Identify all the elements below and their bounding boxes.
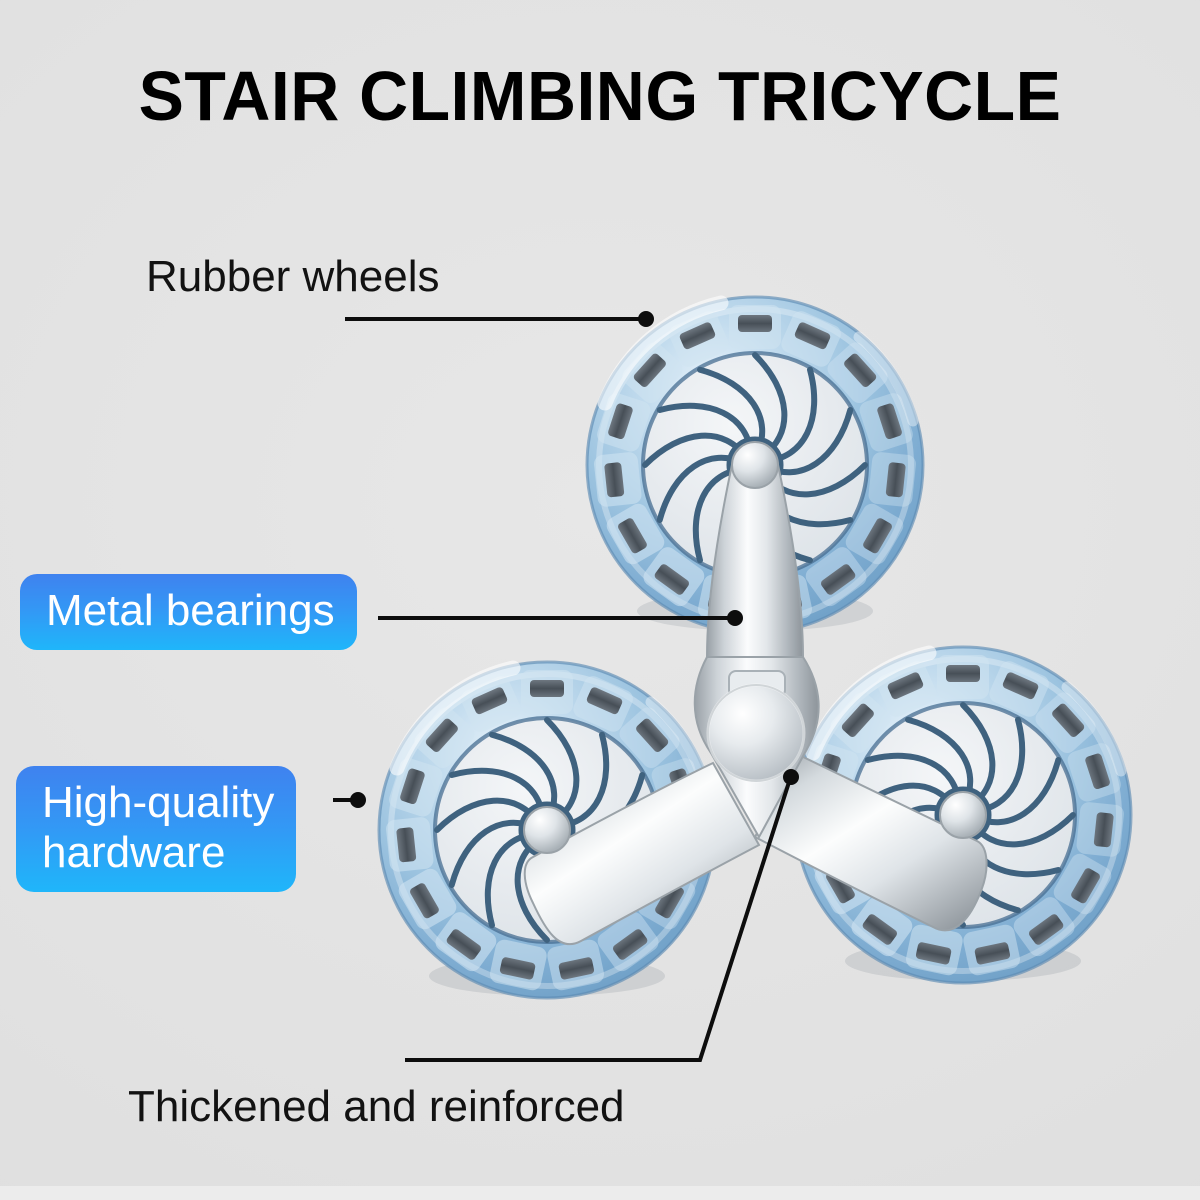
callout-label-rubber-wheels: Rubber wheels xyxy=(146,252,440,302)
callout-badge-metal-bearings: Metal bearings xyxy=(20,574,357,650)
page-title: STAIR CLIMBING TRICYCLE xyxy=(18,56,1182,136)
tricycle-wheel-assembly-svg xyxy=(355,285,1145,1045)
product-illustration xyxy=(355,285,1145,1045)
callout-label-thickened-reinforced: Thickened and reinforced xyxy=(128,1082,625,1132)
infographic-canvas: STAIR CLIMBING TRICYCLE xyxy=(0,0,1200,1200)
callout-badge-high-quality-hardware: High-quality hardware xyxy=(16,766,296,892)
